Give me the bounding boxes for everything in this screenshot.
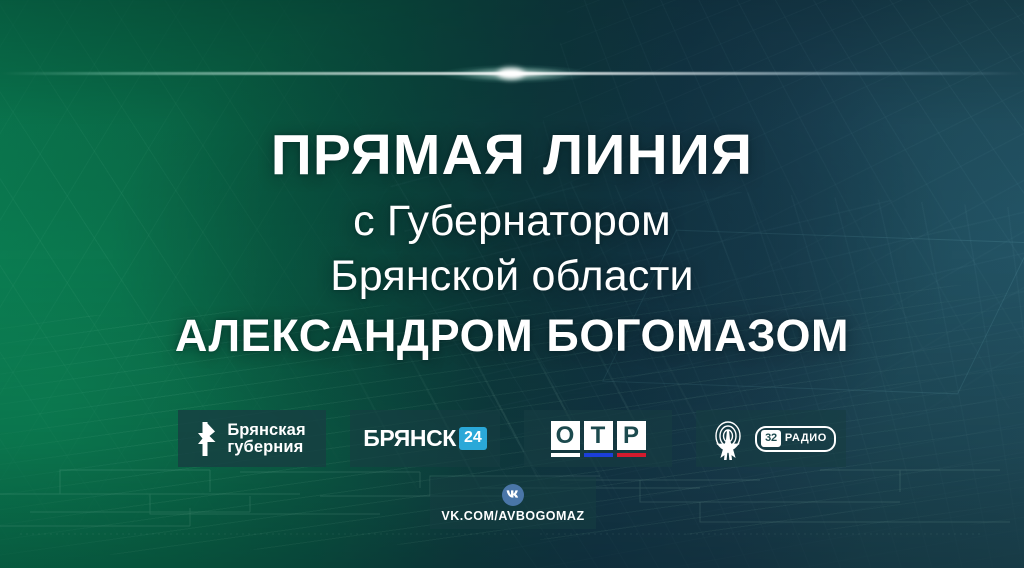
logo-otr-letter-3: Р — [617, 421, 646, 450]
headline-secondary-line-2: Брянской области — [0, 249, 1024, 304]
lens-flare-core — [498, 68, 524, 79]
vk-url-label: VK.COM/AVBOGOMAZ — [441, 509, 584, 523]
logo-otr-cell-1: О — [551, 421, 580, 457]
logo-radio-32-number: 32 — [761, 430, 781, 447]
vk-glyph — [506, 490, 521, 499]
logo-radio-32-word: РАДИО — [785, 433, 827, 444]
headline-primary: ПРЯМАЯ ЛИНИЯ — [0, 126, 1024, 185]
vk-social-block[interactable]: VK.COM/AVBOGOMAZ — [430, 477, 596, 529]
logo-bryansk-24[interactable]: БРЯНСК 24 — [350, 410, 500, 467]
logo-bryanskaya-guberniya-text: Брянская губерния — [227, 422, 305, 456]
logo-otr-letter-1: О — [551, 421, 580, 450]
logo-otr-bar-white — [551, 453, 580, 457]
logo-otr-cell-3: Р — [617, 421, 646, 457]
logo-radio-32[interactable]: 32 РАДИО — [696, 410, 846, 467]
headline-block: ПРЯМАЯ ЛИНИЯ с Губернатором Брянской обл… — [0, 126, 1024, 360]
headline-person-name: АЛЕКСАНДРОМ БОГОМАЗОМ — [0, 311, 1024, 361]
logo-otr-letter-2: Т — [584, 421, 613, 450]
radio-tower-icon — [706, 417, 750, 461]
broadcast-title-card: ПРЯМАЯ ЛИНИЯ с Губернатором Брянской обл… — [0, 0, 1024, 568]
logo-bryansk24-badge: 24 — [459, 427, 487, 450]
logo-otr-cell-2: Т — [584, 421, 613, 457]
logo-otr-bar-blue — [584, 453, 613, 457]
logo-otr[interactable]: О Т Р — [524, 410, 672, 467]
logo-otr-bar-red — [617, 453, 646, 457]
partner-logo-row: Брянская губерния БРЯНСК 24 О Т — [0, 410, 1024, 467]
flag-icon — [198, 422, 220, 456]
vk-icon — [502, 484, 524, 506]
headline-secondary-line-1: с Губернатором — [0, 194, 1024, 249]
logo-bryanskaya-guberniya[interactable]: Брянская губерния — [178, 410, 326, 467]
logo-bryansk24-word: БРЯНСК — [363, 425, 456, 452]
logo-guberniya-line-2: губерния — [227, 439, 305, 456]
logo-guberniya-line-1: Брянская — [227, 422, 305, 439]
logo-radio-32-pill: 32 РАДИО — [755, 426, 836, 452]
